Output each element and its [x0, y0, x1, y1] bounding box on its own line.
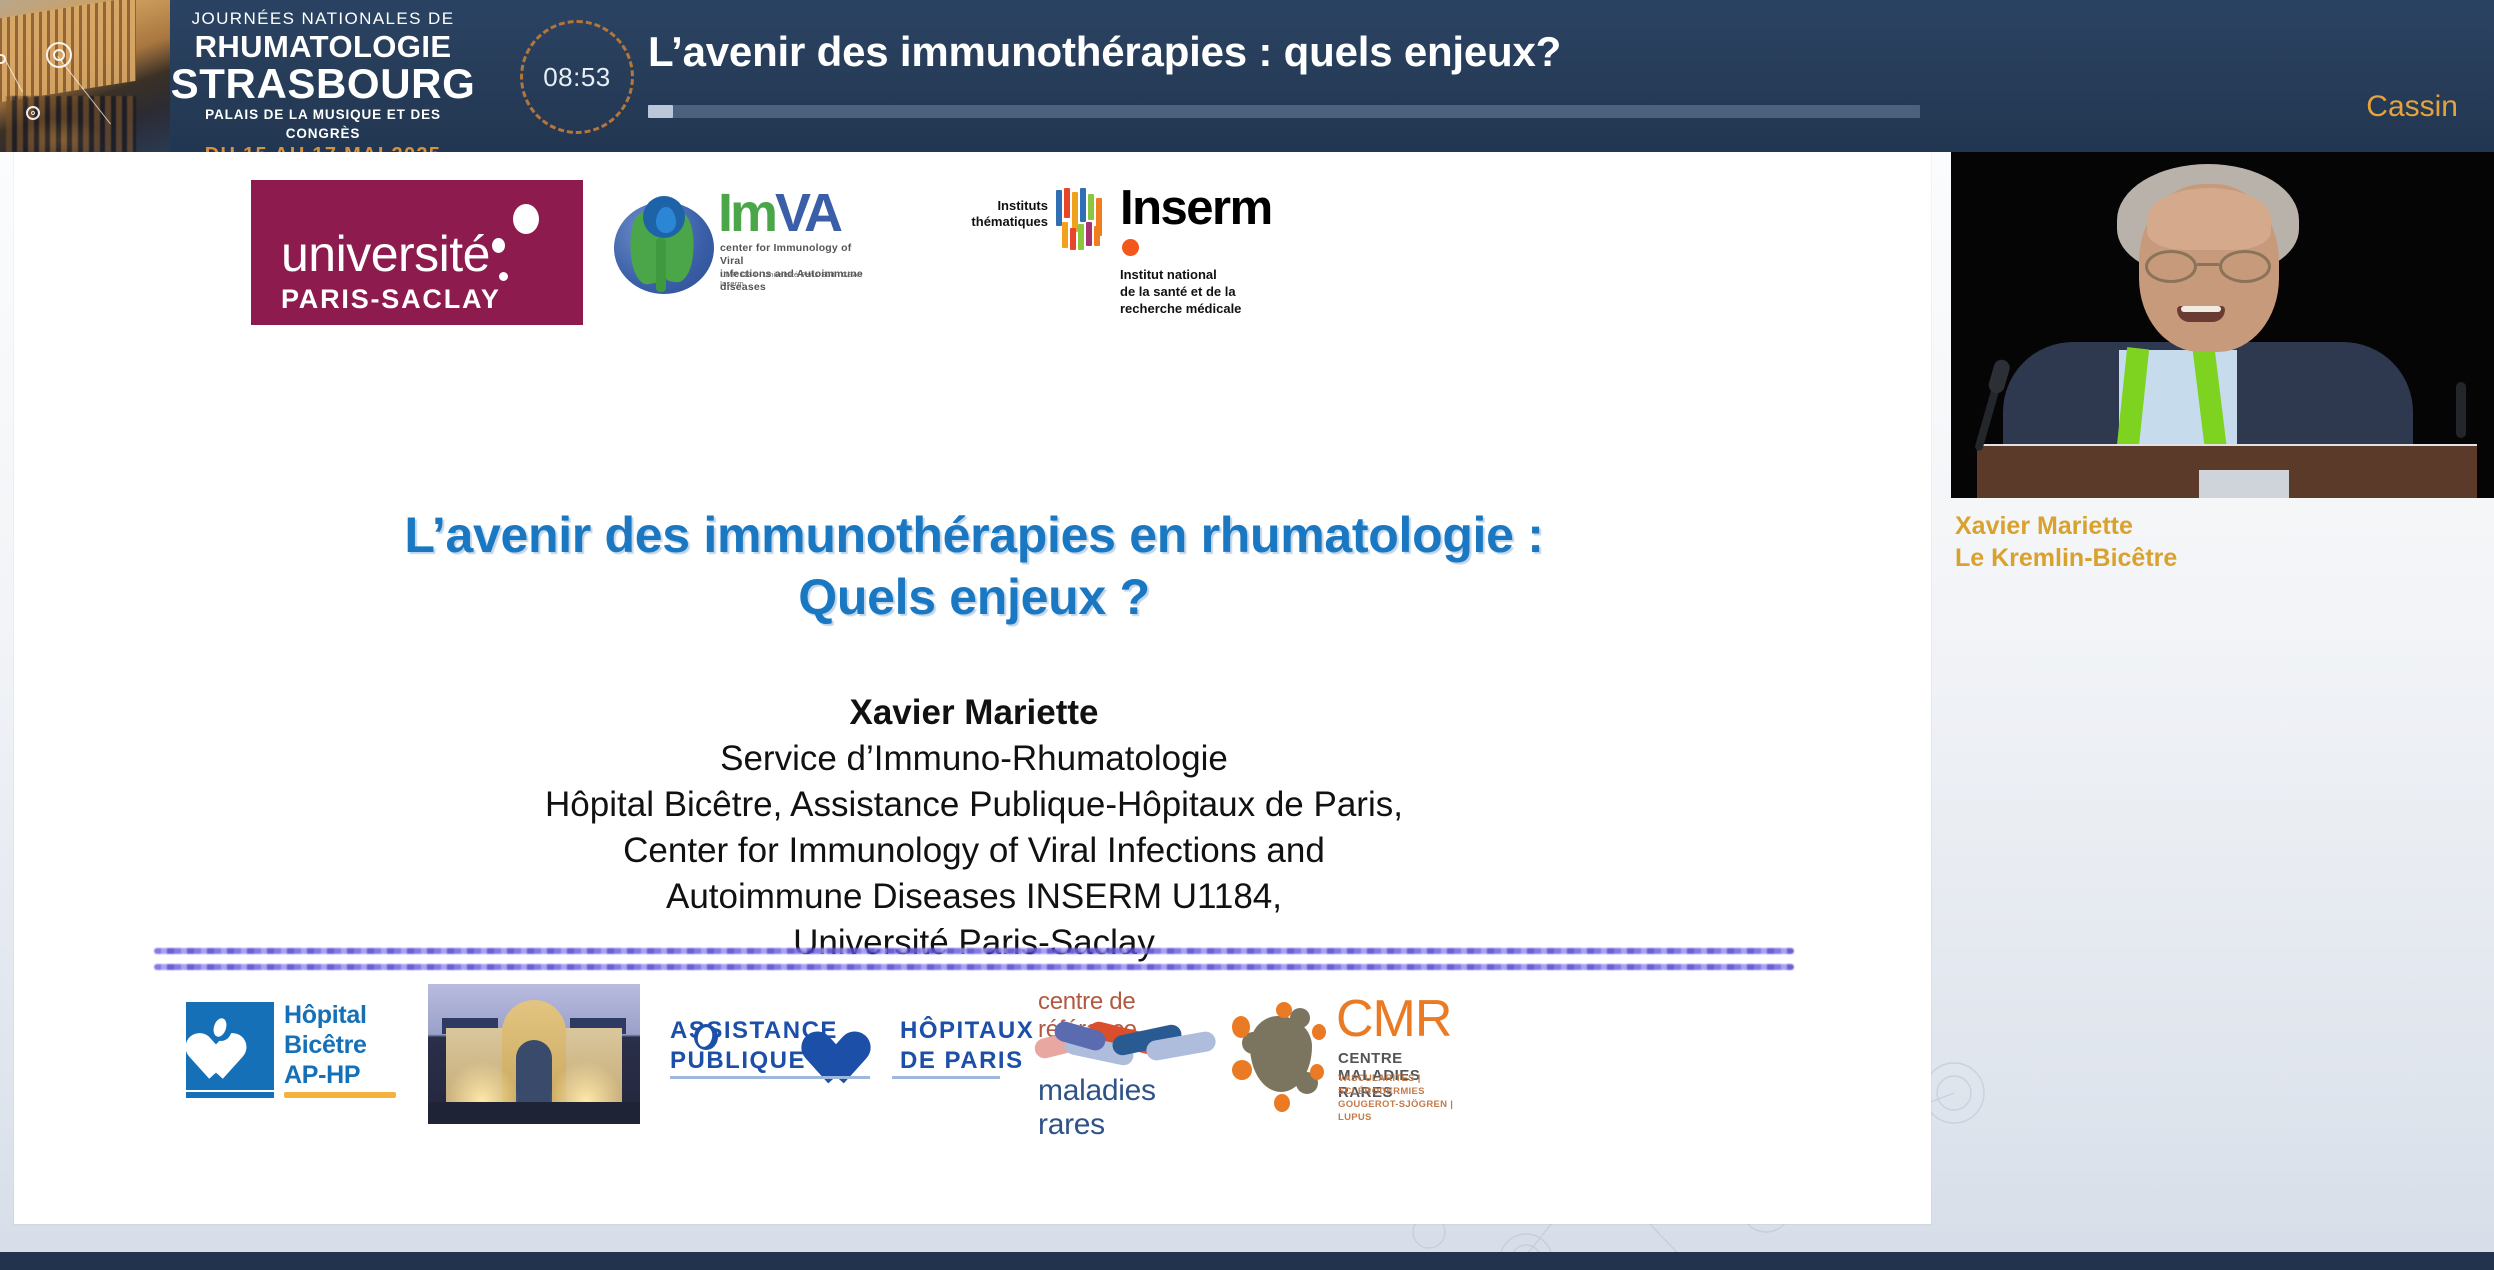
- speaker-mouth: [2177, 306, 2225, 322]
- bird-icon: [694, 1024, 718, 1050]
- author-name: Xavier Mariette: [74, 690, 1874, 736]
- building-reflection: [6, 96, 136, 152]
- congress-line-3: STRASBOURG: [168, 63, 478, 105]
- inserm-wordmark: Inserm: [1120, 182, 1272, 234]
- podium-card: [2199, 470, 2289, 498]
- inserm-tagline: Institut national de la santé et de la r…: [1120, 266, 1288, 317]
- imva-letter-va: VA: [775, 183, 840, 243]
- cmr-diseases-list: VASCULARITES | SCLÉRODERMIES GOUGEROT-SJ…: [1338, 1072, 1478, 1124]
- bicetre-badge-icon: [186, 1002, 274, 1090]
- centre-de-reference-maladies-rares-logo: centre de référence maladies rares: [1034, 988, 1224, 1120]
- aphp-rule: [892, 1076, 1000, 1079]
- timer-value: 08:53: [543, 62, 611, 93]
- gate-uplight: [550, 1062, 622, 1106]
- bicetre-line1: Hôpital: [284, 1000, 367, 1030]
- imva-emblem-icon: [610, 190, 720, 295]
- congress-venue-photo: [0, 0, 170, 152]
- dna-helix-icon: [1034, 1022, 1220, 1070]
- speaker-panel: Xavier Mariette Le Kremlin-Bicêtre: [1951, 152, 2494, 1270]
- slide-top-logo-row: université PARIS-SACLAY ImVA center for …: [14, 152, 1931, 442]
- session-progress-bar[interactable]: [648, 105, 1920, 118]
- bicetre-accent-rule: [284, 1092, 396, 1098]
- microphone-icon: [2456, 382, 2466, 438]
- author-affiliation-3: Center for Immunology of Viral Infection…: [74, 828, 1874, 874]
- slide-title-line1: L’avenir des immunothérapies en rhumatol…: [74, 504, 1874, 566]
- congress-line-1: JOURNÉES NATIONALES DE: [168, 8, 478, 30]
- imva-stem-shape: [656, 238, 666, 292]
- viewer-stage: université PARIS-SACLAY ImVA center for …: [0, 152, 2494, 1270]
- imva-letter-m: m: [730, 183, 775, 243]
- bicetre-wordmark: Hôpital Bicêtre AP-HP: [284, 1000, 367, 1090]
- imva-logo: ImVA center for Immunology of Viral infe…: [610, 180, 870, 320]
- session-title: L’avenir des immunothérapies : quels enj…: [648, 28, 1888, 76]
- inserm-instituts-line1: Instituts: [968, 198, 1048, 214]
- author-affiliation-1: Service d’Immuno-Rhumatologie: [74, 736, 1874, 782]
- inserm-tagline-line1: Institut national: [1120, 266, 1288, 283]
- network-node-icon: [46, 42, 72, 68]
- gate-uplight: [446, 1062, 518, 1106]
- cdr-bottom-text: maladies rares: [1038, 1074, 1224, 1142]
- inserm-instituts-line2: thématiques: [968, 214, 1048, 230]
- inserm-logo: Instituts thématiques: [968, 182, 1288, 332]
- bicetre-line2: Bicêtre: [284, 1030, 367, 1060]
- assistance-publique-hopitaux-de-paris-logo: ASSISTANCE PUBLIQUE HÔPITAUX DE PARIS: [670, 1012, 1000, 1096]
- congress-dates: DU 15 AU 17 MAI 2025: [168, 143, 478, 152]
- session-progress-fill: [648, 105, 673, 118]
- network-node-icon: [26, 106, 40, 120]
- gate-road: [428, 1102, 640, 1124]
- congress-line-2: RHUMATOLOGIE: [168, 30, 478, 63]
- speaker-meta: Xavier Mariette Le Kremlin-Bicêtre: [1951, 510, 2494, 574]
- saclay-wordmark: université: [281, 228, 490, 280]
- decorative-band: [154, 948, 1794, 974]
- inserm-instituts-label: Instituts thématiques: [968, 198, 1048, 230]
- footer-bar: [0, 1252, 2494, 1270]
- imva-gear-icon: [643, 196, 685, 238]
- speaker-name: Xavier Mariette: [1951, 510, 2494, 542]
- cell-blob-icon: [1232, 1002, 1330, 1108]
- author-affiliation-2: Hôpital Bicêtre, Assistance Publique-Hôp…: [74, 782, 1874, 828]
- session-timer: 08:53: [520, 20, 634, 134]
- gate-opening: [516, 1040, 552, 1106]
- congress-branding: JOURNÉES NATIONALES DE RHUMATOLOGIE STRA…: [168, 8, 478, 146]
- aphp-rule: [670, 1076, 870, 1079]
- slide-canvas[interactable]: université PARIS-SACLAY ImVA center for …: [14, 152, 1931, 1224]
- aphp-right-line2: DE PARIS: [900, 1046, 1034, 1076]
- speaker-video[interactable]: [1951, 152, 2494, 498]
- eyeglasses-icon: [2139, 250, 2279, 284]
- inserm-bars-icon: [1056, 188, 1108, 250]
- imva-unit-line: UMR 1184 - Université Paris-Sud - CEA - …: [720, 270, 872, 288]
- room-label: Cassin: [2366, 90, 2458, 124]
- bird-icon: [210, 1015, 232, 1041]
- slide-title: L’avenir des immunothérapies en rhumatol…: [74, 504, 1874, 628]
- author-affiliation-4: Autoimmune Diseases INSERM U1184,: [74, 874, 1874, 920]
- saclay-dot-icon: [513, 204, 539, 234]
- speaker-city: Le Kremlin-Bicêtre: [1951, 542, 2494, 574]
- bicetre-gate-photo: [428, 984, 640, 1124]
- cmr-wordmark: CMR: [1336, 992, 1451, 1046]
- band-line: [154, 964, 1794, 970]
- band-line: [154, 948, 1794, 954]
- inserm-tagline-line2: de la santé et de la recherche médicale: [1120, 283, 1288, 317]
- imva-wordmark: ImVA: [718, 186, 840, 240]
- bicetre-line3: AP-HP: [284, 1060, 367, 1090]
- universite-paris-saclay-logo: université PARIS-SACLAY: [251, 180, 583, 325]
- saclay-subtitle: PARIS-SACLAY: [281, 284, 501, 315]
- microphone-icon: [1974, 372, 2004, 451]
- saclay-dot-icon: [499, 272, 508, 281]
- congress-line-4: PALAIS DE LA MUSIQUE ET DES CONGRÈS: [168, 105, 478, 143]
- imva-tagline-line1: center for Immunology of Viral: [720, 242, 870, 268]
- cmr-centre-maladies-rares-logo: CMR CENTRE MALADIES RARES VASCULARITES |…: [1232, 992, 1474, 1122]
- app-header: JOURNÉES NATIONALES DE RHUMATOLOGIE STRA…: [0, 0, 2494, 152]
- bicetre-badge-bar: [186, 1092, 274, 1098]
- saclay-dot-icon: [492, 238, 505, 253]
- slide-author-block: Xavier Mariette Service d’Immuno-Rhumato…: [74, 690, 1874, 966]
- slide-title-line2: Quels enjeux ?: [74, 566, 1874, 628]
- heart-icon: [820, 1012, 884, 1082]
- slide-bottom-logo-row: Hôpital Bicêtre AP-HP: [14, 978, 1931, 1158]
- hopital-bicetre-aphp-logo: Hôpital Bicêtre AP-HP: [186, 1000, 411, 1118]
- aphp-right-line1: HÔPITAUX: [900, 1016, 1034, 1046]
- imva-letter-i: I: [718, 183, 730, 243]
- inserm-dot-icon: [1122, 239, 1139, 256]
- presentation-viewer: JOURNÉES NATIONALES DE RHUMATOLOGIE STRA…: [0, 0, 2494, 1270]
- speaker-head: [2123, 166, 2293, 356]
- speaker-forehead: [2147, 188, 2271, 250]
- aphp-right-text: HÔPITAUX DE PARIS: [900, 1016, 1034, 1076]
